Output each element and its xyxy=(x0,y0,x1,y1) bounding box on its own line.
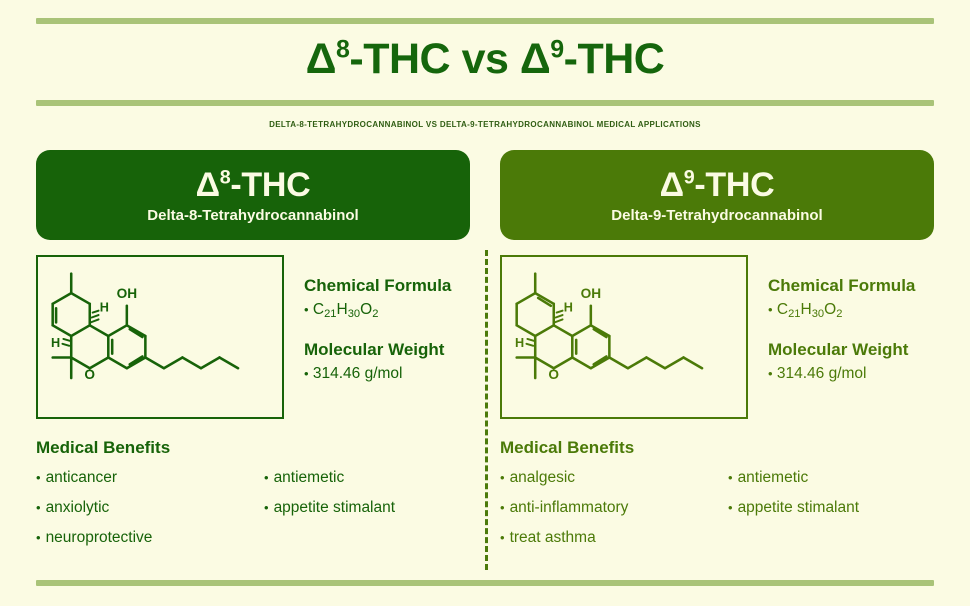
benefit-label: neuroprotective xyxy=(46,529,153,546)
formula-o: O xyxy=(360,301,372,318)
benefits-delta-9: Medical Benefits •analgesic •anti-inflam… xyxy=(500,437,934,553)
bullet-icon: • xyxy=(264,500,269,515)
panel-header-delta-8: Δ8-THC Delta-8-Tetrahydrocannabinol xyxy=(36,150,470,240)
bullet-icon: • xyxy=(768,366,773,381)
list-item: •treat asthma xyxy=(500,523,728,553)
formula-h-count: 30 xyxy=(348,308,360,320)
molecular-weight-value-row: • 314.46 g/mol xyxy=(768,363,915,385)
label-o: O xyxy=(84,367,95,382)
formula-c: C xyxy=(313,301,324,318)
benefit-label: appetite stimalant xyxy=(274,499,396,516)
delta-8-thc-skeletal-structure: OH H H O xyxy=(38,257,282,417)
label-h-upper: H xyxy=(564,301,573,315)
panel-title-suffix: -THC xyxy=(230,166,310,204)
mid-divider-rule xyxy=(36,100,934,106)
panel-title-superscript: 8 xyxy=(220,166,231,188)
list-item: •neuroprotective xyxy=(36,523,264,553)
molecular-weight-heading: Molecular Weight xyxy=(768,339,915,361)
bullet-icon: • xyxy=(728,470,733,485)
structure-box-delta-9: OH H H O xyxy=(500,255,748,419)
benefit-label: antiemetic xyxy=(738,469,809,486)
label-h-lower: H xyxy=(51,336,60,350)
property-spacer xyxy=(304,322,451,339)
column-divider-dashed xyxy=(485,250,488,570)
benefits-column-1: •anticancer •anxiolytic •neuroprotective xyxy=(36,463,264,553)
list-item: •appetite stimalant xyxy=(264,493,470,523)
formula-o-count: 2 xyxy=(372,308,378,320)
chemical-formula-heading: Chemical Formula xyxy=(304,275,451,297)
molecular-weight-heading: Molecular Weight xyxy=(304,339,451,361)
panel-title-delta-9: Δ9-THC xyxy=(660,166,775,204)
page-title-vs: vs xyxy=(462,35,520,83)
formula-o-count: 2 xyxy=(836,308,842,320)
benefit-label: antiemetic xyxy=(274,469,345,486)
bullet-icon: • xyxy=(264,470,269,485)
benefits-heading: Medical Benefits xyxy=(36,437,470,459)
structure-and-properties-delta-9: OH H H O Chemical Formula • C21H30O2 Mol… xyxy=(500,255,934,419)
list-item: •antiemetic xyxy=(264,463,470,493)
list-item: •appetite stimalant xyxy=(728,493,934,523)
panel-header-delta-9: Δ9-THC Delta-9-Tetrahydrocannabinol xyxy=(500,150,934,240)
formula-c-count: 21 xyxy=(788,308,800,320)
bullet-icon: • xyxy=(36,500,41,515)
column-delta-8: Δ8-THC Delta-8-Tetrahydrocannabinol xyxy=(36,150,470,553)
chemical-formula-value: • C21H30O2 xyxy=(768,299,915,322)
chemical-formula-value: • C21H30O2 xyxy=(304,299,451,322)
bullet-icon: • xyxy=(36,470,41,485)
page-title-delta9-sup: 9 xyxy=(550,36,563,64)
label-h-upper: H xyxy=(100,301,109,315)
list-item: •anticancer xyxy=(36,463,264,493)
bullet-icon: • xyxy=(500,500,505,515)
formula-c: C xyxy=(777,301,788,318)
properties-delta-9: Chemical Formula • C21H30O2 Molecular We… xyxy=(768,255,915,385)
bullet-icon: • xyxy=(36,530,41,545)
benefits-delta-8: Medical Benefits •anticancer •anxiolytic… xyxy=(36,437,470,553)
benefits-heading: Medical Benefits xyxy=(500,437,934,459)
properties-delta-8: Chemical Formula • C21H30O2 Molecular We… xyxy=(304,255,451,385)
chemical-formula-heading: Chemical Formula xyxy=(768,275,915,297)
structure-box-delta-8: OH H H O xyxy=(36,255,284,419)
bullet-icon: • xyxy=(728,500,733,515)
list-item: •anti-inflammatory xyxy=(500,493,728,523)
benefits-columns: •anticancer •anxiolytic •neuroprotective… xyxy=(36,463,470,553)
bullet-icon: • xyxy=(768,302,773,317)
benefit-label: anxiolytic xyxy=(46,499,110,516)
page-title: Δ8-THC vs Δ9-THC xyxy=(0,31,970,87)
benefits-column-2: •antiemetic •appetite stimalant xyxy=(264,463,470,553)
structure-and-properties-delta-8: OH H H O Chemical Formula • C21H30O2 Mol… xyxy=(36,255,470,419)
list-item: •analgesic xyxy=(500,463,728,493)
delta-9-thc-skeletal-structure: OH H H O xyxy=(502,257,746,417)
bullet-icon: • xyxy=(304,366,309,381)
formula-h: H xyxy=(801,301,812,318)
label-oh: OH xyxy=(581,286,601,301)
bullet-icon: • xyxy=(500,530,505,545)
molecular-weight-value: 314.46 g/mol xyxy=(777,365,867,382)
label-oh: OH xyxy=(117,286,137,301)
benefit-label: anticancer xyxy=(46,469,118,486)
benefit-label: treat asthma xyxy=(510,529,596,546)
column-delta-9: Δ9-THC Delta-9-Tetrahydrocannabinol xyxy=(500,150,934,553)
page-title-delta8: Δ8-THC xyxy=(306,35,450,83)
benefit-label: anti-inflammatory xyxy=(510,499,629,516)
molecular-weight-value: 314.46 g/mol xyxy=(313,365,403,382)
panel-title-delta-symbol: Δ xyxy=(660,166,684,204)
page-title-delta9: Δ9-THC xyxy=(520,35,664,83)
formula-h: H xyxy=(337,301,348,318)
page-title-delta8-sup: 8 xyxy=(336,36,349,64)
formula-o: O xyxy=(824,301,836,318)
page-subtitle: DELTA-8-TETRAHYDROCANNABINOL VS DELTA-9-… xyxy=(0,120,970,129)
benefits-columns: •analgesic •anti-inflammatory •treat ast… xyxy=(500,463,934,553)
panel-title-delta-8: Δ8-THC xyxy=(196,166,311,204)
benefits-column-1: •analgesic •anti-inflammatory •treat ast… xyxy=(500,463,728,553)
molecular-weight-value-row: • 314.46 g/mol xyxy=(304,363,451,385)
panel-title-delta-symbol: Δ xyxy=(196,166,220,204)
benefit-label: analgesic xyxy=(510,469,576,486)
panel-title-suffix: -THC xyxy=(694,166,774,204)
bottom-divider-rule xyxy=(36,580,934,586)
label-o: O xyxy=(548,367,559,382)
benefit-label: appetite stimalant xyxy=(738,499,860,516)
panel-subtitle-delta-8: Delta-8-Tetrahydrocannabinol xyxy=(147,207,358,225)
benefits-column-2: •antiemetic •appetite stimalant xyxy=(728,463,934,553)
panel-subtitle-delta-9: Delta-9-Tetrahydrocannabinol xyxy=(611,207,822,225)
label-h-lower: H xyxy=(515,336,524,350)
bullet-icon: • xyxy=(304,302,309,317)
formula-c-count: 21 xyxy=(324,308,336,320)
panel-title-superscript: 9 xyxy=(684,166,695,188)
list-item: •antiemetic xyxy=(728,463,934,493)
list-item: •anxiolytic xyxy=(36,493,264,523)
bullet-icon: • xyxy=(500,470,505,485)
infographic-page: Δ8-THC vs Δ9-THC DELTA-8-TETRAHYDROCANNA… xyxy=(0,0,970,606)
top-divider-rule xyxy=(36,18,934,24)
property-spacer xyxy=(768,322,915,339)
formula-h-count: 30 xyxy=(812,308,824,320)
